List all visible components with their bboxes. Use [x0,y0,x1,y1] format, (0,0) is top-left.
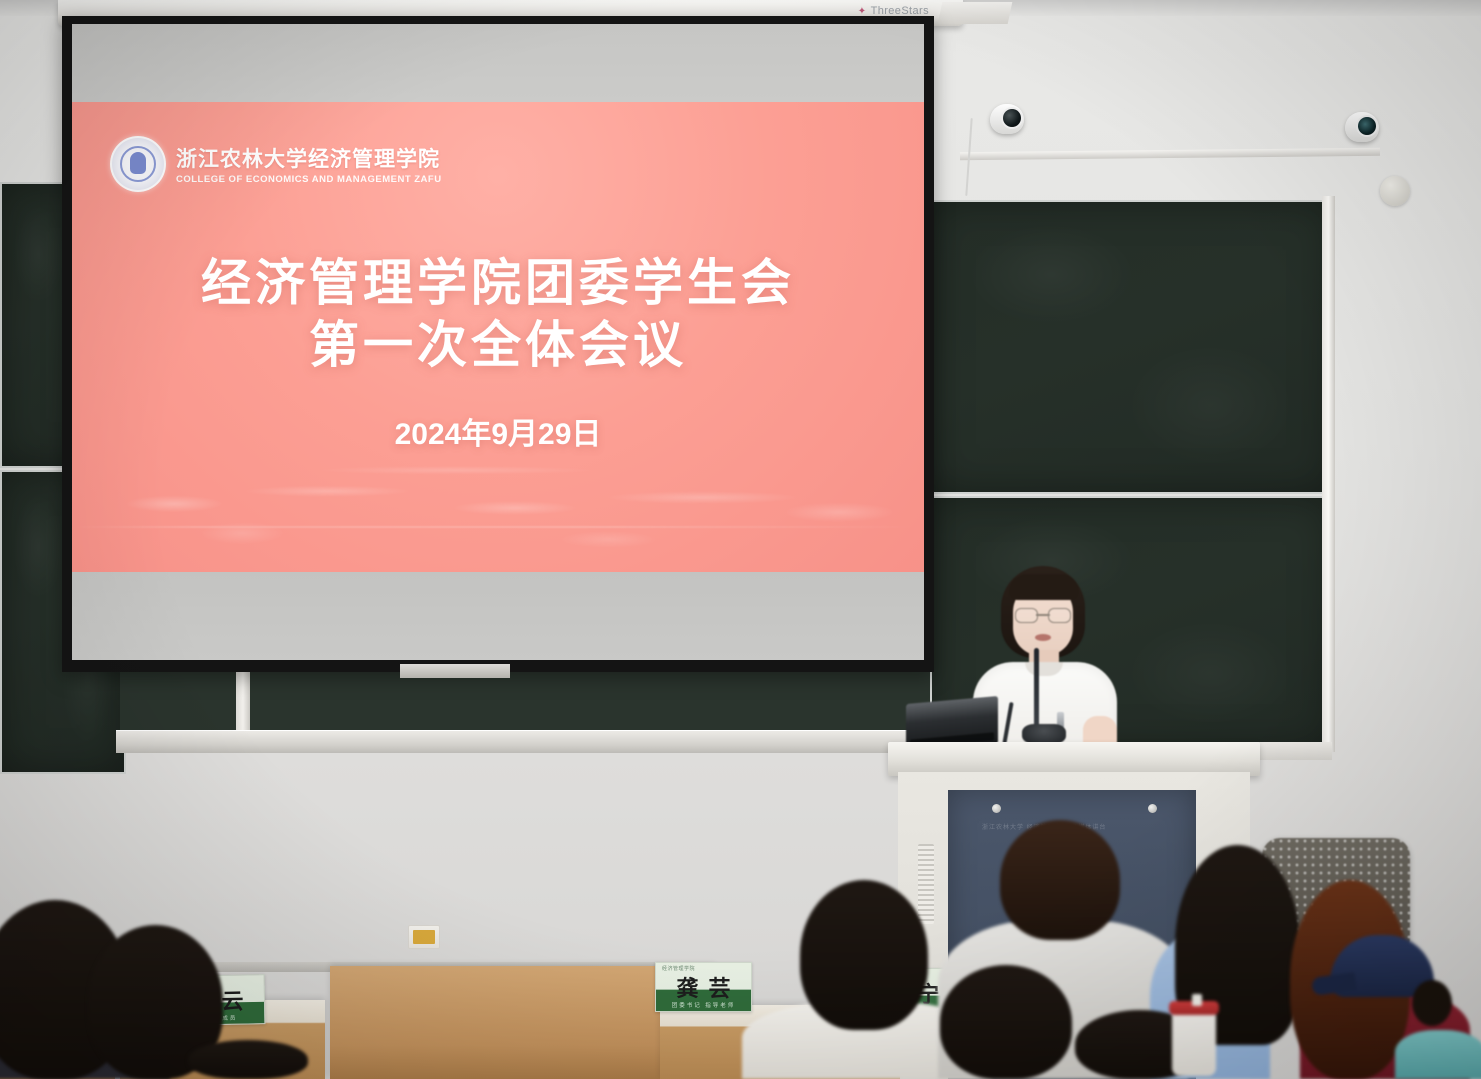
slide-date: 2024年9月29日 [72,409,924,453]
glasses-lens-right [1048,608,1071,623]
nameplate-name: 龚芸 [656,971,751,1003]
slide-title-line2: 第一次全体会议 [72,314,924,376]
audience-head [1000,820,1120,940]
logo-english-name: COLLEGE OF ECONOMICS AND MANAGEMENT ZAFU [176,174,442,185]
drink-cup [1172,1010,1216,1076]
camera-lens [1358,117,1376,135]
blackboard-panel-right-upper [930,200,1332,494]
glasses-icon [1015,608,1071,621]
power-outlet-icon [408,925,440,949]
screen-housing-end-cap [938,2,1013,24]
blackboard-frame-right [1322,196,1335,752]
cup-straw [1192,994,1202,1006]
chalk-ledge-center [116,730,948,753]
classroom-photo-scene: ✦ ThreeStars 浙江农林大学经济管理学院 COLLEGE OF ECO… [0,0,1481,1079]
nameplate-footer: 团委书记 指导老师 [656,1001,751,1009]
presentation-slide: 浙江农林大学经济管理学院 COLLEGE OF ECONOMICS AND MA… [72,102,924,592]
wall-speaker-icon [1380,176,1410,206]
screen-weight-bar [400,664,510,678]
projection-screen: 浙江农林大学经济管理学院 COLLEGE OF ECONOMICS AND MA… [62,16,934,672]
slide-title-line1: 经济管理学院团委学生会 [201,255,795,311]
audience-shoulders [1395,1030,1481,1079]
microphone-base [1022,724,1066,744]
university-seal-icon [110,136,166,192]
glasses-lens-left [1015,608,1038,623]
panel-screw [1148,804,1157,813]
podium-vent [918,844,934,924]
brand-star-icon: ✦ [858,6,867,17]
microphone-stem [1034,648,1039,730]
screen-gray-top-band [72,24,924,102]
security-camera-icon [1345,112,1379,142]
slide-title: 经济管理学院团委学生会 第一次全体会议 [72,252,924,376]
audience-head [188,1040,308,1079]
audience-head [940,965,1072,1079]
panel-screw [992,804,1001,813]
logo-text-block: 浙江农林大学经济管理学院 COLLEGE OF ECONOMICS AND MA… [176,143,442,185]
screen-surface: 浙江农林大学经济管理学院 COLLEGE OF ECONOMICS AND MA… [72,24,924,660]
podium-top-surface [888,742,1260,776]
nameplate: 经济管理学院 龚芸 团委书记 指导老师 [655,962,752,1012]
audience-head [800,880,928,1030]
speaker-bangs [1009,574,1079,600]
audience-hair-bun [1412,980,1452,1026]
slide-logo: 浙江农林大学经济管理学院 COLLEGE OF ECONOMICS AND MA… [110,136,442,192]
speaker-mouth [1035,634,1051,641]
screen-gray-bottom-band [72,572,924,660]
camera-lens [1003,109,1021,127]
logo-chinese-name: 浙江农林大学经济管理学院 [176,143,442,173]
security-camera-icon [990,104,1024,134]
